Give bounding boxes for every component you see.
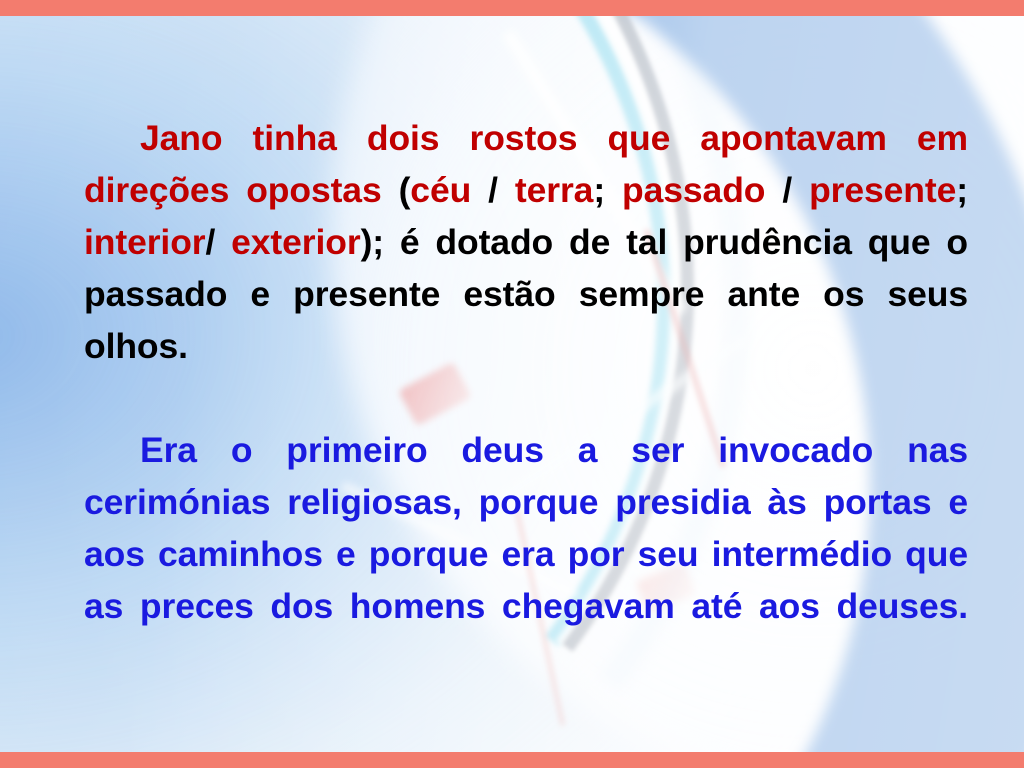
text-segment-interior: interior bbox=[84, 222, 206, 262]
slide-text-content: Jano tinha dois rostos que apontavam em … bbox=[84, 112, 968, 684]
paragraph-primeiro-deus: Era o primeiro deus a ser invocado nas c… bbox=[84, 424, 968, 684]
presentation-slide: Jano tinha dois rostos que apontavam em … bbox=[0, 0, 1024, 768]
text-segment-semi-1: ; bbox=[593, 170, 622, 210]
text-segment-exterior: exterior bbox=[231, 222, 360, 262]
text-segment-slash-2: / bbox=[765, 170, 809, 210]
text-segment-slash-1: / bbox=[471, 170, 515, 210]
text-segment-presente: presente bbox=[809, 170, 956, 210]
paragraph-jano: Jano tinha dois rostos que apontavam em … bbox=[84, 112, 968, 424]
text-segment-passado: passado bbox=[622, 170, 765, 210]
text-segment-terra: terra bbox=[515, 170, 593, 210]
text-segment-semi-2: ; bbox=[956, 170, 968, 210]
text-segment-black-1: ( bbox=[399, 170, 411, 210]
bottom-accent-bar bbox=[0, 752, 1024, 768]
text-segment-slash-3: / bbox=[206, 222, 232, 262]
top-accent-bar bbox=[0, 0, 1024, 16]
text-segment-ceu: céu bbox=[410, 170, 471, 210]
